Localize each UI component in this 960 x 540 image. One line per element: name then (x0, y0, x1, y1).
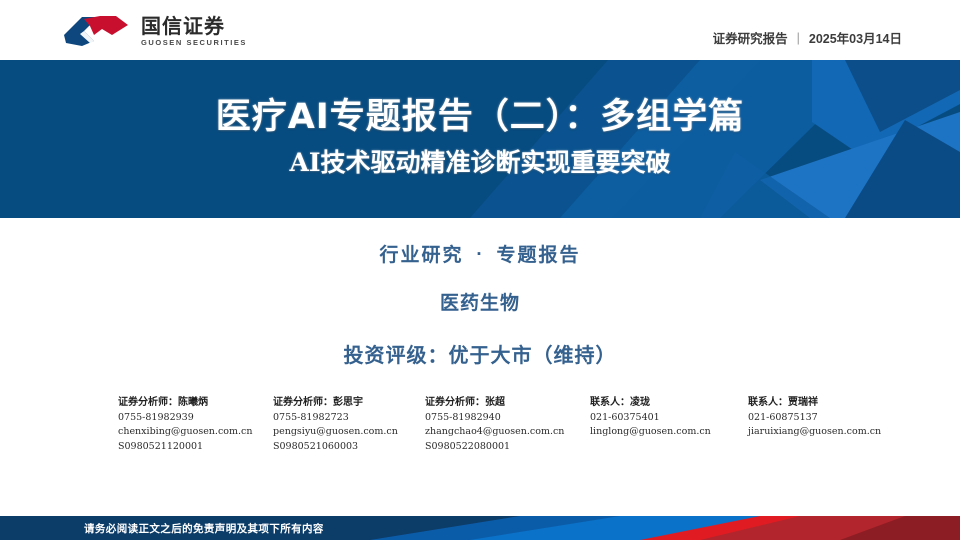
contact-name: 联系人：凌珑 (590, 396, 738, 411)
industry-name: 医药生物 (0, 288, 960, 315)
report-meta-block: 行业研究 · 专题报告 医药生物 投资评级：优于大市（维持） (0, 240, 960, 368)
contact-phone: 021-60875137 (748, 411, 898, 426)
research-category-line: 行业研究 · 专题报告 (0, 240, 960, 267)
logo-chinese-name: 国信证券 (141, 16, 247, 36)
report-type-label: 证券研究报告 (713, 28, 788, 47)
analyst-email: chenxibing@guosen.com.cn (118, 425, 263, 440)
logo-wordmark: 国信证券 GUOSEN SECURITIES (141, 16, 247, 47)
analyst-license: S0980521120001 (118, 440, 263, 455)
analyst-phone: 0755-81982939 (118, 411, 263, 426)
contact-name: 联系人：贾瑞祥 (748, 396, 898, 411)
contact-card: 联系人：凌珑 021-60375401 linglong@guosen.com.… (590, 396, 748, 455)
logo-english-name: GUOSEN SECURITIES (141, 39, 247, 47)
investment-rating: 投资评级：优于大市（维持） (0, 339, 960, 368)
header-separator: | (797, 31, 800, 45)
contact-card: 联系人：贾瑞祥 021-60875137 jiaruixiang@guosen.… (748, 396, 908, 455)
brand-logo: 国信证券 GUOSEN SECURITIES (60, 13, 247, 49)
report-date: 2025年03月14日 (809, 28, 902, 47)
report-category: 专题报告 (496, 244, 580, 266)
page-footer: 请务必阅读正文之后的免责声明及其项下所有内容 (0, 516, 960, 540)
contact-email: jiaruixiang@guosen.com.cn (748, 425, 898, 440)
contact-phone: 021-60375401 (590, 411, 738, 426)
category-separator-dot: · (472, 245, 488, 263)
page-header: 国信证券 GUOSEN SECURITIES 证券研究报告 | 2025年03月… (0, 0, 960, 60)
analyst-phone: 0755-81982940 (425, 411, 580, 426)
report-subtitle: AI技术驱动精准诊断实现重要突破 (289, 143, 670, 179)
analyst-email: zhangchao4@guosen.com.cn (425, 425, 580, 440)
report-title: 医疗AI专题报告（二）：多组学篇 (216, 97, 745, 137)
analyst-card: 证券分析师：陈曦炳 0755-81982939 chenxibing@guose… (118, 396, 273, 455)
analyst-card: 证券分析师：彭思宇 0755-81982723 pengsiyu@guosen.… (273, 396, 425, 455)
analyst-phone: 0755-81982723 (273, 411, 415, 426)
analyst-license: S0980521060003 (273, 440, 415, 455)
hero-text-block: 医疗AI专题报告（二）：多组学篇 AI技术驱动精准诊断实现重要突破 (0, 60, 960, 218)
header-meta: 证券研究报告 | 2025年03月14日 (713, 28, 902, 47)
contact-email: linglong@guosen.com.cn (590, 425, 738, 440)
analyst-license: S0980522080001 (425, 440, 580, 455)
footer-disclaimer: 请务必阅读正文之后的免责声明及其项下所有内容 (0, 516, 960, 540)
report-cover-page: 国信证券 GUOSEN SECURITIES 证券研究报告 | 2025年03月… (0, 0, 960, 540)
analyst-card: 证券分析师：张超 0755-81982940 zhangchao4@guosen… (425, 396, 590, 455)
research-category: 行业研究 (380, 244, 464, 266)
analyst-email: pengsiyu@guosen.com.cn (273, 425, 415, 440)
analyst-name: 证券分析师：张超 (425, 396, 580, 411)
guosen-logo-icon (60, 13, 132, 49)
hero-banner: 医疗AI专题报告（二）：多组学篇 AI技术驱动精准诊断实现重要突破 (0, 60, 960, 218)
analyst-contact-strip: 证券分析师：陈曦炳 0755-81982939 chenxibing@guose… (0, 396, 960, 455)
analyst-name: 证券分析师：彭思宇 (273, 396, 415, 411)
analyst-name: 证券分析师：陈曦炳 (118, 396, 263, 411)
